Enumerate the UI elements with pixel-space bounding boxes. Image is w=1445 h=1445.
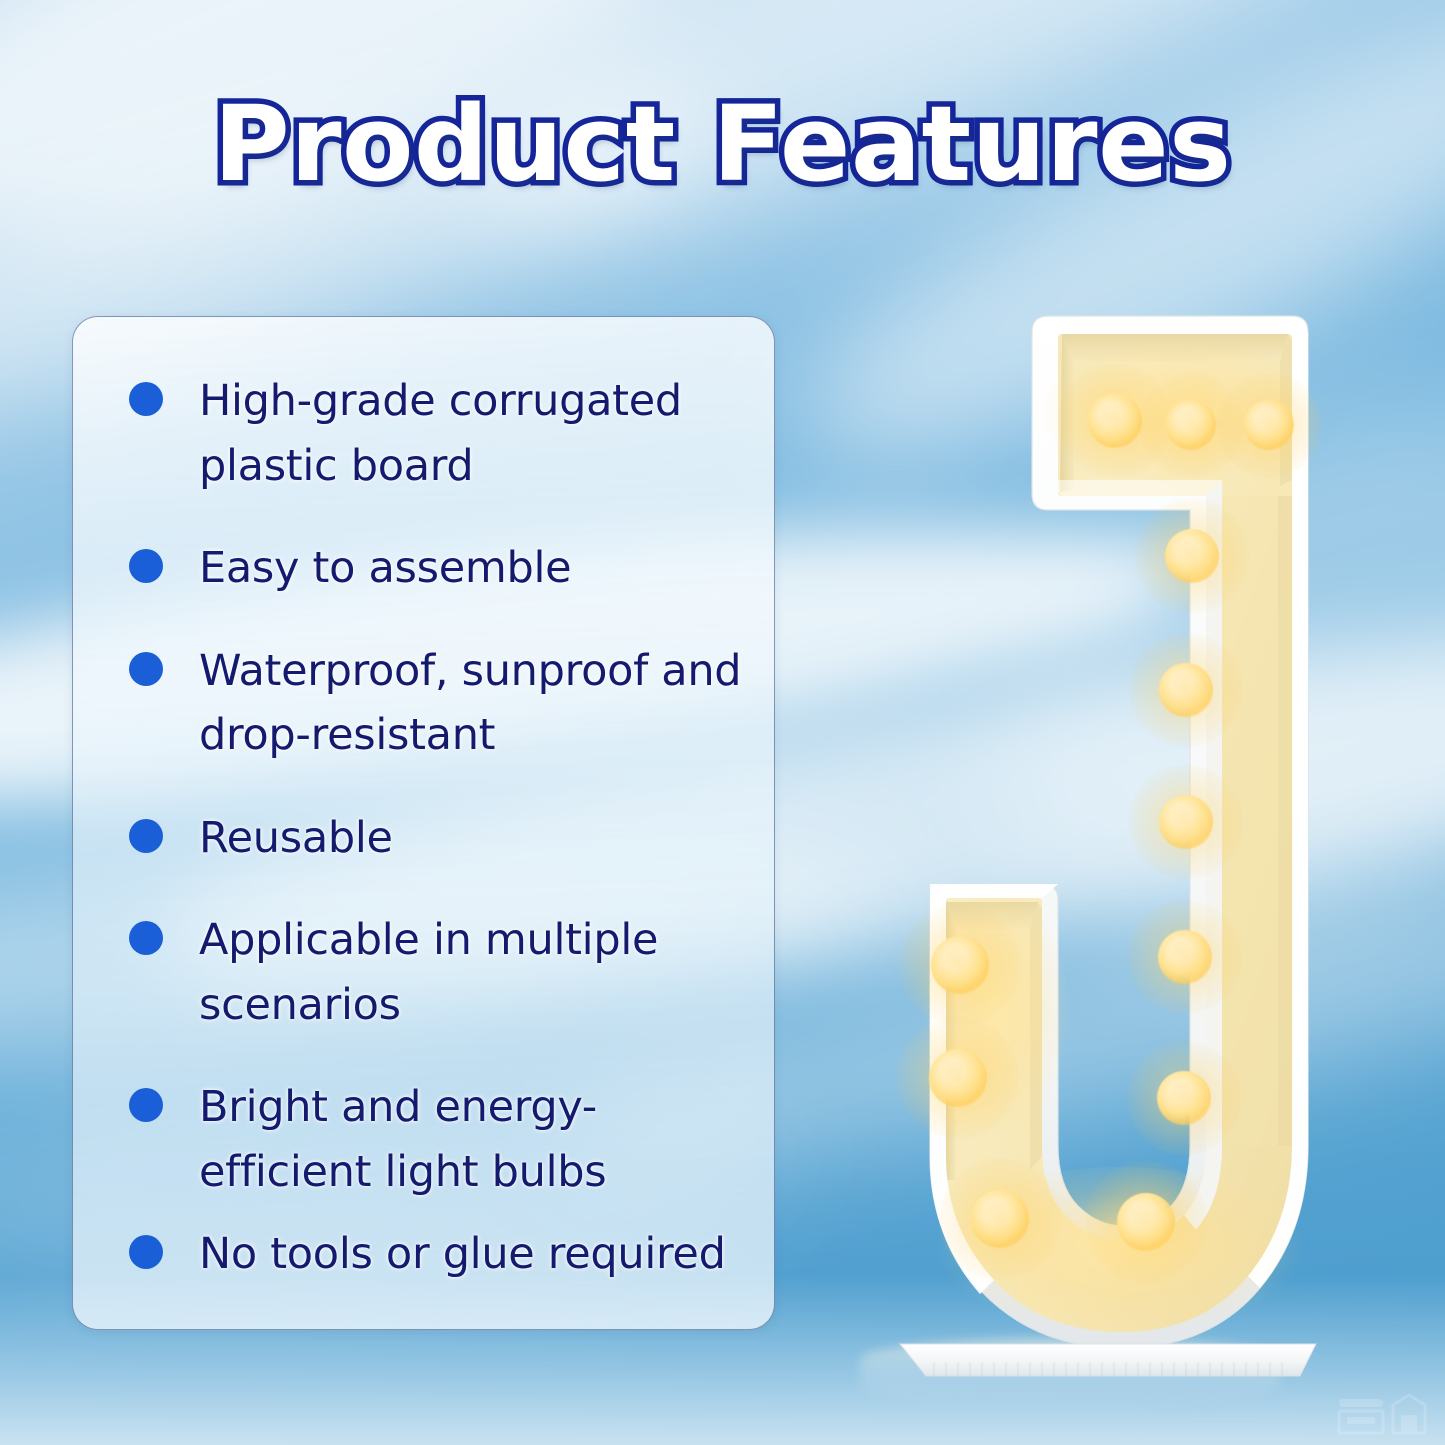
list-item: Bright and energy-efficient light bulbs [129, 1075, 756, 1204]
list-item: High-grade corrugated plastic board [129, 369, 756, 498]
list-item: Applicable in multiple scenarios [129, 908, 756, 1037]
bullet-dot-icon [129, 652, 163, 686]
marquee-letter-light [830, 300, 1390, 1390]
bullet-dot-icon [129, 819, 163, 853]
list-item-label: Waterproof, sunproof and drop-resistant [199, 639, 756, 768]
list-item-label: Applicable in multiple scenarios [199, 908, 756, 1037]
bullet-dot-icon [129, 549, 163, 583]
list-item: Reusable [129, 806, 756, 871]
marquee-letter-j-graphic [830, 300, 1390, 1390]
bullet-dot-icon [129, 1088, 163, 1122]
features-card: High-grade corrugated plastic board Easy… [72, 316, 775, 1330]
product-features-infographic: Product Features High-grade corrugated p… [0, 0, 1445, 1445]
list-item: Waterproof, sunproof and drop-resistant [129, 639, 756, 768]
list-item-label: High-grade corrugated plastic board [199, 369, 756, 498]
bullet-dot-icon [129, 1235, 163, 1269]
list-item-label: Bright and energy-efficient light bulbs [199, 1075, 756, 1204]
bullet-dot-icon [129, 921, 163, 955]
list-item: Easy to assemble [129, 536, 756, 601]
list-item-label: No tools or glue required [199, 1222, 726, 1287]
corner-watermark [1335, 1389, 1433, 1437]
list-item: No tools or glue required [129, 1222, 756, 1287]
list-item-label: Reusable [199, 806, 393, 871]
features-list: High-grade corrugated plastic board Easy… [73, 317, 774, 1287]
list-item-label: Easy to assemble [199, 536, 571, 601]
page-title: Product Features [0, 92, 1445, 196]
bullet-dot-icon [129, 382, 163, 416]
